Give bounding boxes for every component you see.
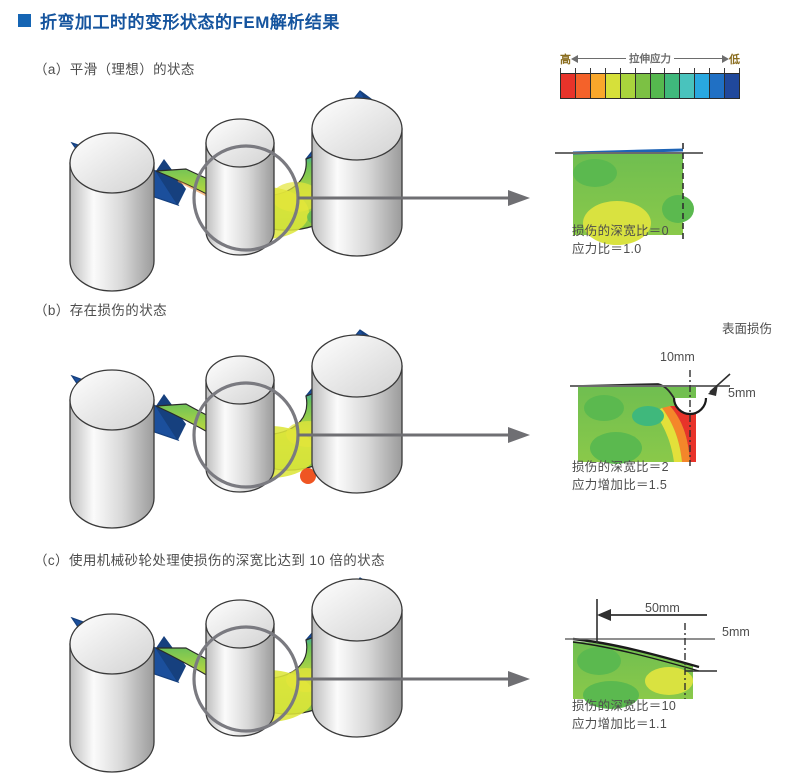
detail-caption-b-line2: 应力增加比＝1.5 — [572, 476, 667, 494]
annotation-width-c: 50mm — [645, 601, 680, 615]
detail-caption-c-line1: 损伤的深宽比＝10 — [572, 697, 676, 715]
legend-rule-left — [578, 58, 626, 60]
roller-center — [206, 600, 274, 736]
contour-blob1-b — [584, 395, 624, 421]
detail-svg-b — [570, 362, 785, 472]
page-title: 折弯加工时的变形状态的FEM解析结果 — [40, 8, 340, 33]
legend-axis-row: 高 拉伸应力 低 — [560, 50, 740, 67]
legend-tick-9 — [694, 68, 709, 73]
legend-tick-2 — [590, 68, 605, 73]
pointer-arrowhead-b — [508, 427, 530, 443]
arrow-right-icon — [722, 55, 729, 63]
legend-band-0 — [561, 74, 576, 98]
stress-color-legend: 高 拉伸应力 低 — [560, 50, 740, 99]
legend-tick-5 — [635, 68, 650, 73]
legend-band-7 — [665, 74, 680, 98]
roller-right — [312, 579, 402, 737]
roll-bending-illustration-c — [60, 578, 530, 778]
section-label-c: （c）使用机械砂轮处理使损伤的深宽比达到 10 倍的状态 — [34, 549, 385, 569]
roller-left — [70, 370, 154, 528]
section-label-a: （a）平滑（理想）的状态 — [34, 58, 195, 78]
legend-tick-7 — [664, 68, 679, 73]
contour-blob1-a — [573, 159, 617, 187]
legend-tick-6 — [650, 68, 665, 73]
legend-band-3 — [606, 74, 621, 98]
legend-tick-3 — [605, 68, 620, 73]
legend-band-1 — [576, 74, 591, 98]
legend-tick-4 — [620, 68, 635, 73]
legend-band-11 — [725, 74, 739, 98]
arrow-left-icon — [571, 55, 578, 63]
legend-band-9 — [695, 74, 710, 98]
figure-root: 折弯加工时的变形状态的FEM解析结果 高 拉伸应力 低 （a）平滑（理想）的状态 — [0, 0, 800, 767]
roll-bending-illustration-b — [60, 330, 530, 540]
roller-right — [312, 335, 402, 493]
annotation-depth-b: 5mm — [728, 386, 756, 400]
legend-band-6 — [651, 74, 666, 98]
dim-arrowhead-c — [597, 609, 611, 621]
roller-center — [206, 356, 274, 492]
bending-svg-a — [60, 85, 530, 295]
legend-rule-right — [674, 58, 722, 60]
legend-band-2 — [591, 74, 606, 98]
contour-blob1-c — [577, 647, 621, 675]
legend-axis-label: 拉伸应力 — [626, 51, 674, 66]
legend-tick-1 — [575, 68, 590, 73]
bending-svg-b — [60, 330, 530, 540]
roller-center — [206, 119, 274, 255]
pointer-arrowhead-a — [508, 190, 530, 206]
page-header: 折弯加工时的变形状态的FEM解析结果 — [18, 8, 340, 33]
pointer-arrowhead-c — [508, 671, 530, 687]
roller-left — [70, 133, 154, 291]
legend-band-5 — [636, 74, 651, 98]
annotation-surface-damage-b: 表面损伤 — [722, 318, 772, 337]
roll-bending-illustration-a — [60, 85, 530, 295]
legend-arrow-left — [571, 55, 626, 63]
section-label-b: （b）存在损伤的状态 — [34, 299, 167, 319]
annotation-depth-c: 5mm — [722, 625, 750, 639]
contour-blob3-a — [662, 195, 694, 223]
square-marker-icon — [18, 14, 31, 27]
legend-arrow-right — [674, 55, 729, 63]
legend-band-8 — [680, 74, 695, 98]
legend-tick-0 — [560, 68, 575, 73]
detail-caption-a-line1: 损伤的深宽比＝0 — [572, 222, 669, 240]
detail-view-b — [570, 362, 785, 472]
legend-band-10 — [710, 74, 725, 98]
detail-caption-a-line2: 应力比＝1.0 — [572, 240, 641, 258]
legend-tick-11 — [724, 68, 740, 73]
legend-high-label: 高 — [560, 51, 571, 67]
legend-low-label: 低 — [729, 51, 740, 67]
annotation-width-b: 10mm — [660, 350, 695, 364]
legend-ticks — [560, 68, 740, 73]
bending-svg-c — [60, 578, 530, 778]
legend-tick-8 — [679, 68, 694, 73]
contour-teal-b — [632, 406, 664, 426]
detail-caption-c-line2: 应力增加比＝1.1 — [572, 715, 667, 733]
legend-color-bands — [560, 73, 740, 99]
detail-caption-b-line1: 损伤的深宽比＝2 — [572, 458, 669, 476]
roller-right — [312, 98, 402, 256]
roller-left — [70, 614, 154, 772]
legend-tick-10 — [709, 68, 724, 73]
legend-band-4 — [621, 74, 636, 98]
